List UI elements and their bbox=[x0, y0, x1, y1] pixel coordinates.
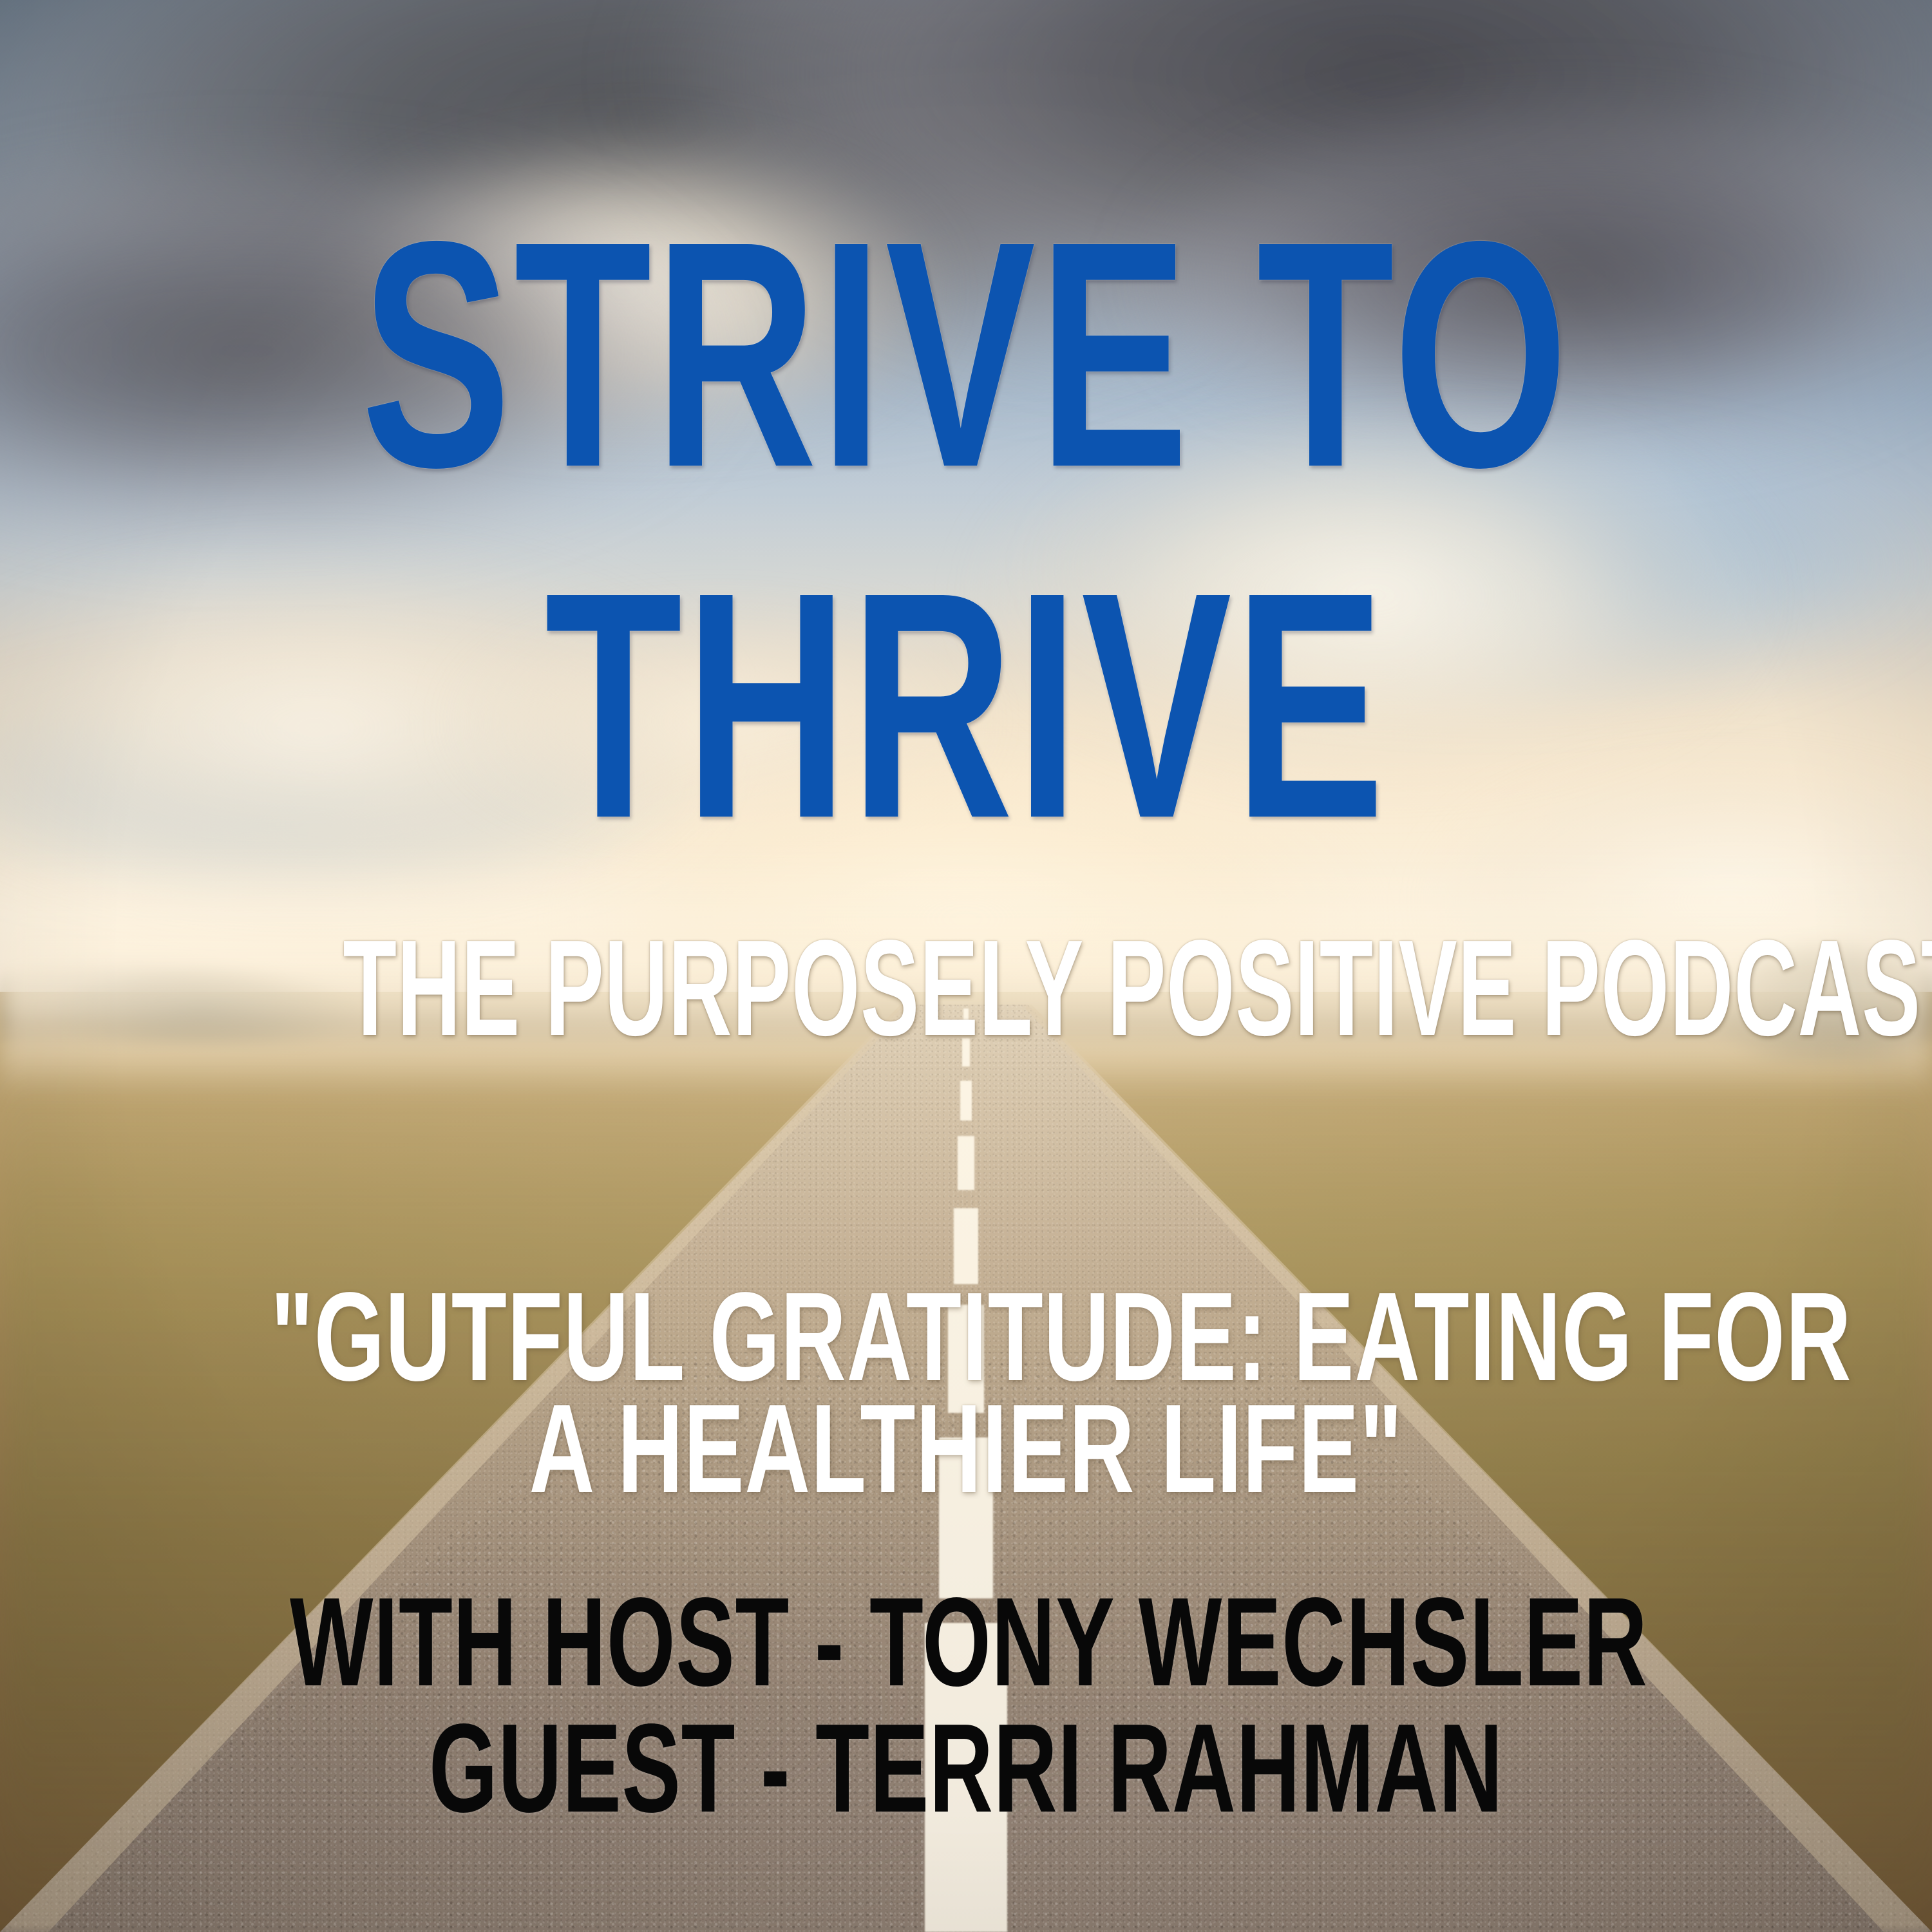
episode-title-line-2: A HEALTHIER LIFE" bbox=[270, 1386, 1662, 1512]
podcast-cover-art: STRIVE TO THRIVE THE PURPOSELY POSITIVE … bbox=[0, 0, 1932, 1932]
host-credit: WITH HOST - TONY WECHSLER bbox=[290, 1579, 1642, 1705]
centre-line-dash bbox=[958, 1136, 974, 1190]
show-tagline: THE PURPOSELY POSITIVE PODCAST bbox=[343, 920, 1589, 1056]
show-title-line-1: STRIVE TO bbox=[290, 193, 1642, 515]
centre-line-dash bbox=[960, 1081, 972, 1121]
show-title-line-2: THRIVE bbox=[290, 544, 1642, 866]
guest-credit: GUEST - TERRI RAHMAN bbox=[290, 1705, 1642, 1832]
